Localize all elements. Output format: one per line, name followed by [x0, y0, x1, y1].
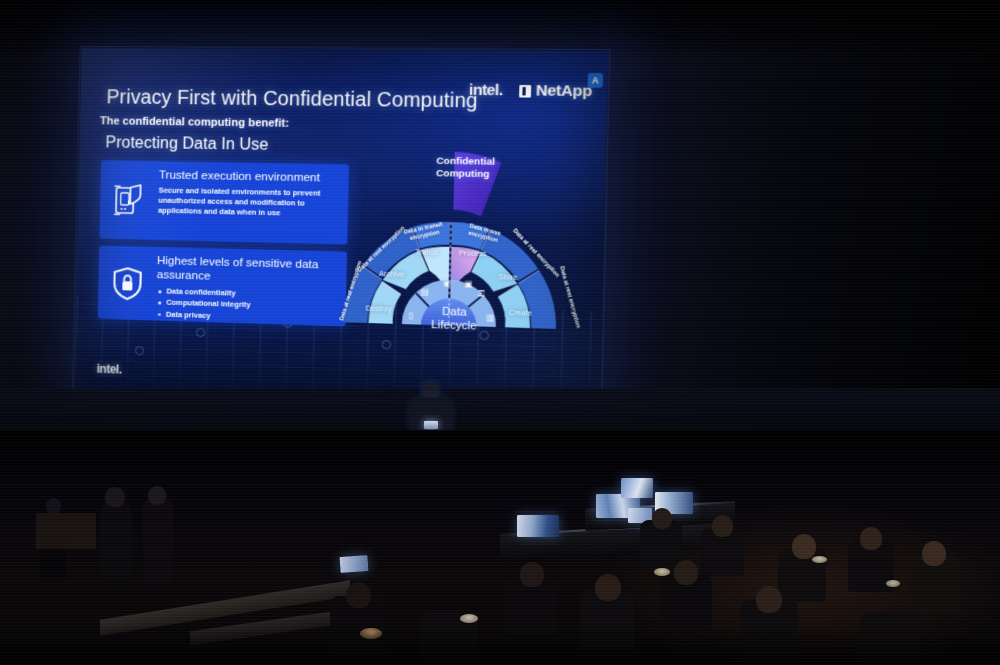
food-plate	[654, 568, 670, 576]
audience-head	[860, 527, 882, 550]
audience-head	[346, 582, 371, 608]
diagram-hub-label: Data Lifecycle	[411, 305, 497, 335]
food-plate	[812, 556, 827, 563]
trash-icon: ▯	[409, 311, 414, 320]
audience-silhouette	[100, 502, 132, 580]
presentation-slide: Privacy First with Confidential Computin…	[74, 48, 608, 408]
slide-subtitle: Protecting Data In Use	[105, 134, 268, 155]
screen-content	[517, 515, 559, 537]
intel-logo: intel.	[469, 81, 503, 99]
audience-head	[105, 487, 125, 507]
screenshot-root: Privacy First with Confidential Computin…	[0, 0, 1000, 665]
food-plate	[360, 628, 382, 639]
monitor-icon: ▣	[464, 279, 472, 289]
middle-label-destroy: Destroy	[366, 303, 392, 313]
server-shield-icon	[99, 160, 159, 240]
presenter-device-screen	[424, 421, 438, 429]
audience-head	[712, 515, 733, 537]
intel-footer-logo: intel.	[96, 362, 121, 377]
slide-title: Privacy First with Confidential Computin…	[106, 86, 478, 113]
coin-icon: ◉	[443, 279, 451, 289]
data-lifecycle-diagram: Confidential Computing Data Lifecycle Da…	[310, 148, 593, 367]
callout-line-1: Confidential	[436, 156, 495, 169]
key-icon: ⚿	[478, 289, 485, 300]
callout-label: Confidential Computing	[436, 156, 495, 182]
benefit-card-trusted-execution: Trusted execution environment Secure and…	[99, 160, 349, 244]
box-icon: ▤	[421, 287, 429, 297]
screen-content	[621, 478, 653, 498]
audience-head	[148, 486, 166, 505]
middle-label-process: Process	[459, 248, 487, 258]
netapp-badge-letter: A	[592, 76, 599, 86]
projection-screen: Privacy First with Confidential Computin…	[74, 48, 608, 408]
lock-shield-icon	[98, 246, 158, 321]
audience-head	[674, 560, 698, 585]
equipment-crate	[36, 513, 96, 549]
food-plate	[460, 614, 478, 623]
audience-head	[46, 498, 61, 514]
netapp-wordmark: NetApp	[536, 82, 592, 100]
middle-label-create: Create	[509, 308, 532, 318]
audience-head	[756, 586, 782, 613]
laptop-screen[interactable]	[339, 555, 368, 573]
audience-silhouette	[143, 497, 173, 583]
audience-head	[792, 534, 816, 559]
food-plate	[886, 580, 900, 587]
database-icon: ▥	[486, 313, 494, 323]
audience-head	[520, 562, 544, 587]
screen-content	[339, 555, 368, 573]
laptop-screen[interactable]	[517, 515, 559, 537]
middle-label-transit: Transit	[415, 247, 438, 257]
callout-line-2: Computing	[436, 168, 495, 181]
audience-head	[652, 508, 672, 529]
benefit-card-data-assurance: Highest levels of sensitive data assuran…	[98, 246, 347, 327]
slide-kicker: The confidential computing benefit:	[100, 115, 289, 130]
slide-logo-bar: intel. NetApp A	[469, 81, 592, 100]
netapp-badge-icon: A	[588, 73, 604, 88]
netapp-mark-icon	[520, 84, 532, 97]
monitor-screen[interactable]	[621, 478, 653, 498]
netapp-logo: NetApp A	[520, 82, 593, 100]
audience-head	[922, 541, 946, 566]
hub-line-2: Lifecycle	[411, 318, 496, 334]
audience-head	[595, 574, 621, 601]
middle-label-archive: Archive	[379, 269, 404, 279]
theater-seat	[860, 612, 920, 665]
middle-label-store: Store	[499, 272, 518, 282]
